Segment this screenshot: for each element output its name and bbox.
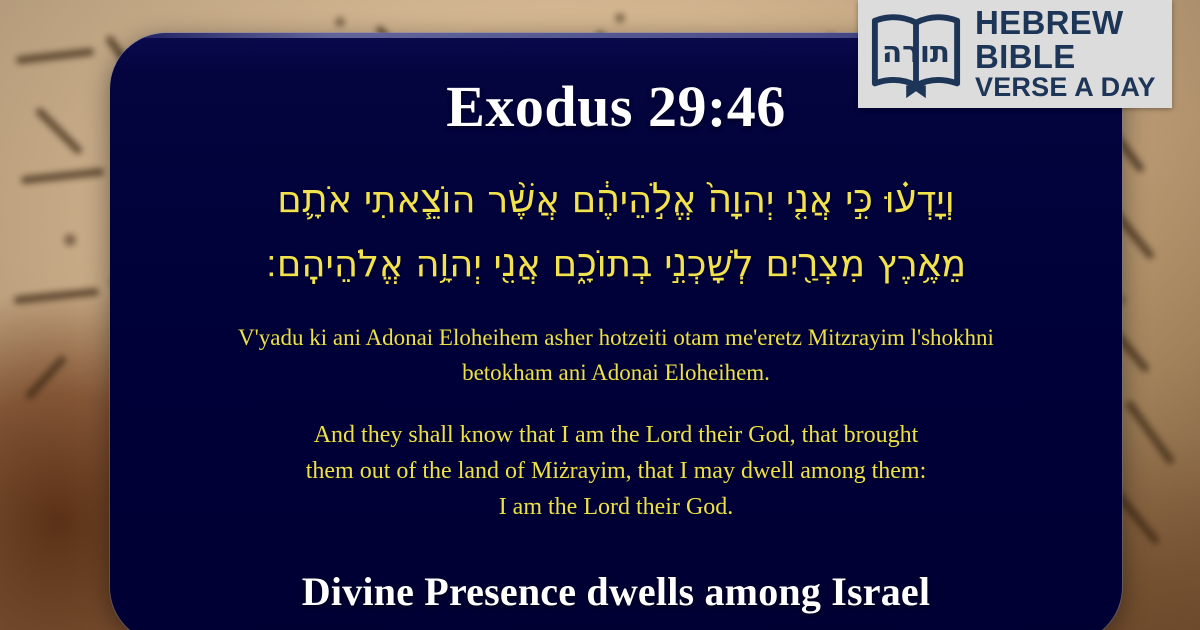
book-hebrew-word: תורה (882, 35, 950, 69)
brand-logo[interactable]: תורה HEBREW BIBLE VERSE A DAY (858, 0, 1172, 108)
brand-line-bible: BIBLE (975, 40, 1156, 74)
brand-line-verse-a-day: VERSE A DAY (975, 74, 1156, 102)
hebrew-line-1: וְיָדְע֗וּ כִּ֣י אֲנִ֤י יְהוָה֙ אֱלֹ֣הֵי… (176, 168, 1056, 232)
translation-line-3: I am the Lord their God. (216, 489, 1016, 525)
translation-line-1: And they shall know that I am the Lord t… (216, 417, 1016, 453)
verse-theme-caption: Divine Presence dwells among Israel (110, 568, 1122, 615)
brand-line-hebrew: HEBREW (975, 6, 1156, 40)
bookmark-ribbon-icon (906, 85, 926, 98)
verse-poster: Exodus 29:46 וְיָדְע֗וּ כִּ֣י אֲנִ֤י יְה… (0, 0, 1200, 630)
transliteration-line-1: V'yadu ki ani Adonai Eloheihem asher hot… (238, 325, 802, 350)
hebrew-verse-text: וְיָדְע֗וּ כִּ֣י אֲנִ֤י יְהוָה֙ אֱלֹ֣הֵי… (176, 168, 1056, 295)
translation-line-2: them out of the land of Miżrayim, that I… (216, 453, 1016, 489)
english-translation-text: And they shall know that I am the Lord t… (216, 417, 1016, 525)
open-book-torah-icon: תורה (867, 7, 965, 101)
hebrew-line-2: מֵאֶ֥רֶץ מִצְרַ֖יִם לְשָׁכְנִ֣י בְתוֹכָ֑… (176, 232, 1056, 296)
verse-card: Exodus 29:46 וְיָדְע֗וּ כִּ֣י אֲנִ֤י יְה… (110, 33, 1122, 630)
brand-logo-text: HEBREW BIBLE VERSE A DAY (975, 6, 1156, 102)
transliteration-text: V'yadu ki ani Adonai Eloheihem asher hot… (196, 321, 1036, 391)
